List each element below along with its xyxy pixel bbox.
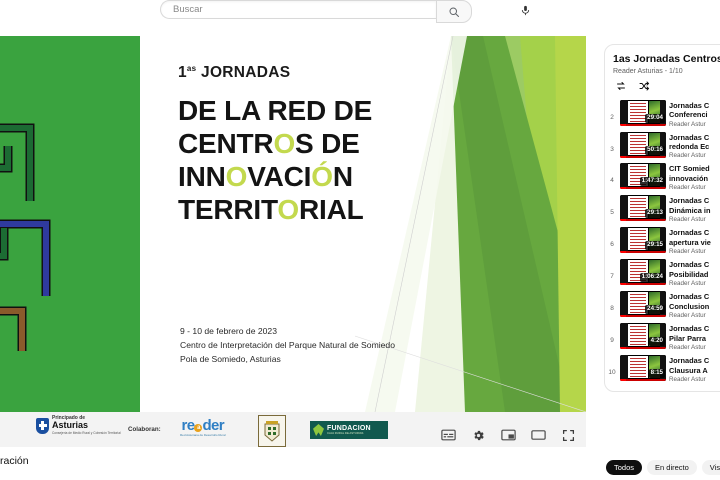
slide-text-block: 1as JORNADAS DE LA RED DE CENTROS DE INN…	[178, 64, 478, 226]
playlist-item-title-line2: Conclusion	[669, 302, 720, 311]
shuffle-icon	[638, 80, 650, 92]
playlist-item-duration: 8:15	[649, 369, 665, 378]
voice-search-button[interactable]	[515, 0, 535, 21]
search-button[interactable]	[436, 0, 472, 23]
playlist-item[interactable]: 41:47:32CIT SomiedinnovaciónReader Astur	[605, 161, 720, 193]
playlist-item[interactable]: 529:13Jornadas CDinámica inReader Astur	[605, 193, 720, 225]
search-input[interactable]	[171, 3, 436, 16]
miniplayer-button[interactable]	[500, 427, 516, 443]
playlist-item-duration: 4:20	[649, 337, 665, 346]
playlist-item-index: 4	[607, 163, 617, 184]
playlist-item-duration: 1:06:24	[640, 273, 665, 282]
settings-button[interactable]	[470, 427, 486, 443]
logo-fundacion-caja-rural: FUNDACION CAJA RURAL DE ASTURIAS	[310, 421, 388, 439]
playlist-item-thumbnail[interactable]: 29:15	[620, 227, 666, 253]
playlist-item-thumbnail[interactable]: 29:04	[620, 100, 666, 126]
heading-line-1: DE LA RED DE	[178, 94, 478, 127]
subtitles-button[interactable]	[440, 427, 456, 443]
theater-button[interactable]	[530, 427, 546, 443]
playlist-item-index: 8	[607, 291, 617, 312]
coat-of-arms-icon	[263, 420, 281, 442]
search-bar	[160, 0, 472, 20]
circuit-graphic-icon	[0, 106, 80, 356]
heading-line-3: INNOVACIÓN	[178, 160, 478, 193]
theater-mode-icon	[531, 429, 546, 441]
youtube-watch-page: 1as JORNADAS DE LA RED DE CENTROS DE INN…	[0, 0, 720, 480]
asturias-cross-icon	[36, 418, 49, 434]
playlist-item-index: 6	[607, 227, 617, 248]
playlist-item-title-line1: Jornadas C	[669, 228, 720, 237]
playlist-item-title-line1: Jornadas C	[669, 356, 720, 365]
playlist-item-thumbnail[interactable]: 4:20	[620, 323, 666, 349]
heading-line-2: CENTROS DE	[178, 127, 478, 160]
playlist-item-thumbnail[interactable]: 50:16	[620, 132, 666, 158]
playlist-item[interactable]: 71:06:24Jornadas CPosibilidadReader Astu…	[605, 257, 720, 289]
fundacion-sub: CAJA RURAL DE ASTURIAS	[327, 432, 371, 436]
microphone-icon	[520, 4, 531, 17]
filter-chip[interactable]: Todos	[606, 460, 642, 475]
slide-venue: Centro de Interpretación del Parque Natu…	[180, 338, 395, 352]
playlist-item-channel: Reader Astur	[669, 280, 720, 287]
playlist-card: 1as Jornadas Centros d Reader Asturias -…	[604, 44, 720, 392]
playlist-item-index: 7	[607, 259, 617, 280]
video-title-below-player: ración	[0, 455, 300, 467]
playlist-item-thumbnail[interactable]: 1:06:24	[620, 259, 666, 285]
playlist-sidebar: 1as Jornadas Centros d Reader Asturias -…	[600, 36, 720, 480]
playlist-item-title-line2: Dinámica in	[669, 206, 720, 215]
playlist-channel-progress: Reader Asturias - 1/10	[605, 66, 720, 75]
playlist-item-duration: 29:15	[645, 241, 665, 250]
asturias-dept: Consejería de Medio Rural y Cohesión Ter…	[52, 431, 121, 435]
playlist-item-channel: Reader Astur	[669, 152, 720, 159]
player-controls	[440, 427, 576, 443]
playlist-item-channel: Reader Astur	[669, 248, 720, 255]
slide-meta: 9 - 10 de febrero de 2023 Centro de Inte…	[180, 324, 395, 367]
playlist-item-title-line1: Jornadas C	[669, 260, 720, 269]
filter-chips: TodosEn directoVisto	[606, 460, 720, 475]
loop-button[interactable]	[614, 80, 627, 93]
filter-chip[interactable]: En directo	[647, 460, 697, 475]
search-icon	[448, 6, 460, 18]
kicker-number: 1	[178, 64, 187, 81]
search-input-container[interactable]	[160, 0, 436, 19]
playlist-item-title-line2: redonda Ec	[669, 142, 720, 151]
playlist-item[interactable]: 229:04Jornadas CConferenciReader Astur	[605, 98, 720, 130]
playlist-item-duration: 24:59	[645, 305, 665, 314]
playlist-item[interactable]: 350:16Jornadas Credonda EcReader Astur	[605, 130, 720, 162]
playlist-item-thumbnail[interactable]: 8:15	[620, 355, 666, 381]
playlist-item-thumbnail[interactable]: 1:47:32	[620, 163, 666, 189]
asturias-name: Asturias	[52, 421, 121, 430]
playlist-item-channel: Reader Astur	[669, 184, 720, 191]
playlist-item[interactable]: 629:15Jornadas Capertura vieReader Astur	[605, 225, 720, 257]
playlist-item-duration: 29:04	[645, 114, 665, 123]
playlist-title: 1as Jornadas Centros d	[605, 53, 720, 66]
reader-wordmark: reader	[180, 418, 226, 433]
playlist-item-title-line2: Pilar Parra	[669, 334, 720, 343]
playlist-item[interactable]: 94:20Jornadas CPilar ParraReader Astur	[605, 321, 720, 353]
playlist-item-title-line1: Jornadas C	[669, 196, 720, 205]
playlist-item-index: 9	[607, 323, 617, 344]
fullscreen-button[interactable]	[560, 427, 576, 443]
filter-chip[interactable]: Visto	[702, 460, 720, 475]
playlist-item[interactable]: 824:59Jornadas CConclusionReader Astur	[605, 289, 720, 321]
subtitles-icon	[441, 429, 456, 441]
miniplayer-icon	[501, 429, 516, 441]
logo-ayuntamiento-escudo	[258, 415, 286, 447]
loop-icon	[615, 80, 627, 92]
playlist-item-title-line2: Clausura A	[669, 366, 720, 375]
fundacion-leaf-icon	[313, 424, 324, 436]
playlist-item-index: 3	[607, 132, 617, 153]
playlist-item[interactable]: 108:15Jornadas CClausura AReader Astur	[605, 353, 720, 385]
slide-location: Pola de Somiedo, Asturias	[180, 352, 395, 366]
top-bar	[0, 0, 720, 36]
playlist-item-title-line2: Posibilidad	[669, 270, 720, 279]
playlist-controls	[605, 75, 720, 97]
heading-line-4: TERRITORIAL	[178, 193, 478, 226]
reader-part-a: re	[182, 417, 195, 434]
reader-part-b: der	[202, 417, 224, 434]
slide-date: 9 - 10 de febrero de 2023	[180, 324, 395, 338]
kicker-word: JORNADAS	[201, 64, 290, 81]
playlist-item-channel: Reader Astur	[669, 216, 720, 223]
playlist-item-channel: Reader Astur	[669, 121, 720, 128]
playlist-items-list: 229:04Jornadas CConferenciReader Astur35…	[605, 98, 720, 385]
logo-reader: reader Red Asturiana de Desarrollo Rural	[180, 418, 226, 438]
playlist-item-title-line1: CIT Somied	[669, 164, 720, 173]
playlist-item-thumbnail[interactable]: 24:59	[620, 291, 666, 317]
playlist-item-duration: 1:47:32	[640, 177, 665, 186]
playlist-item-title-line1: Jornadas C	[669, 292, 720, 301]
playlist-item-thumbnail[interactable]: 29:13	[620, 195, 666, 221]
playlist-item-index: 10	[607, 355, 617, 376]
shuffle-button[interactable]	[637, 80, 650, 93]
playlist-item-duration: 29:13	[645, 209, 665, 218]
colaboran-label: Colaboran:	[128, 426, 161, 433]
playlist-item-channel: Reader Astur	[669, 376, 720, 383]
gear-icon	[472, 429, 485, 442]
playlist-item-channel: Reader Astur	[669, 344, 720, 351]
kicker-sup: as	[187, 64, 197, 73]
video-frame-slide: 1as JORNADAS DE LA RED DE CENTROS DE INN…	[0, 36, 586, 447]
slide-heading: DE LA RED DE CENTROS DE INNOVACIÓN TERRI…	[178, 94, 478, 226]
playlist-item-title-line1: Jornadas C	[669, 101, 720, 110]
slide-green-panel	[0, 36, 140, 412]
slide-kicker: 1as JORNADAS	[178, 64, 478, 82]
playlist-item-title-line2: innovación	[669, 174, 720, 183]
playlist-item-duration: 50:16	[645, 146, 665, 155]
reader-subtitle: Red Asturiana de Desarrollo Rural	[180, 434, 226, 438]
playlist-item-channel: Reader Astur	[669, 312, 720, 319]
logo-principado-asturias: Principado de Asturias Consejería de Med…	[36, 416, 121, 435]
playlist-item-title-line2: Conferenci	[669, 110, 720, 119]
video-player[interactable]: 1as JORNADAS DE LA RED DE CENTROS DE INN…	[0, 36, 586, 447]
playlist-item-title-line1: Jornadas C	[669, 133, 720, 142]
playlist-item-index: 5	[607, 195, 617, 216]
playlist-item-index: 2	[607, 100, 617, 121]
playlist-item-title-line1: Jornadas C	[669, 324, 720, 333]
playlist-item-title-line2: apertura vie	[669, 238, 720, 247]
fullscreen-icon	[562, 429, 575, 442]
